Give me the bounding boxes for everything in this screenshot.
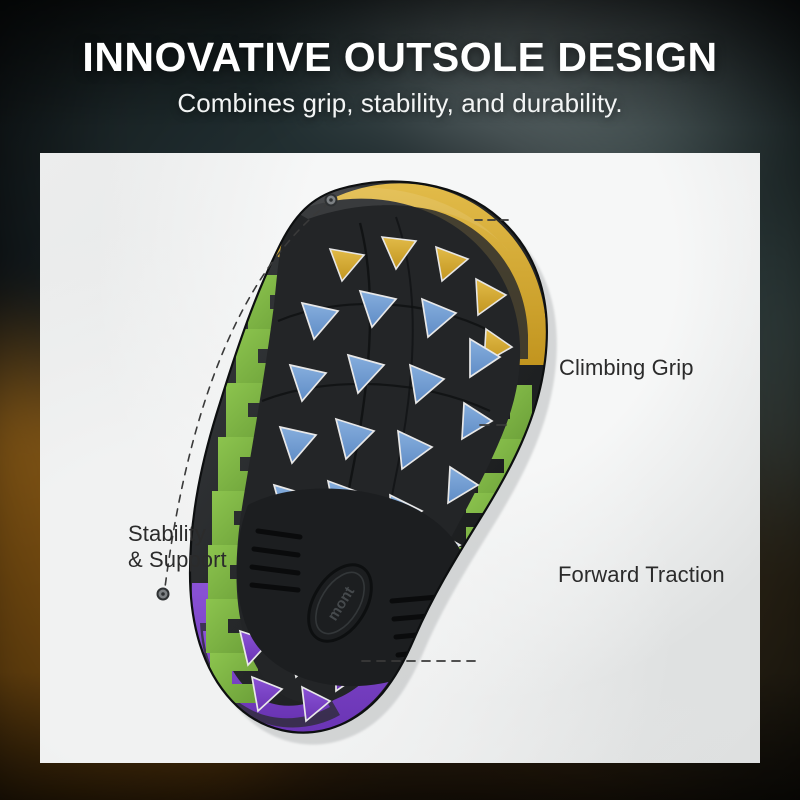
product-card: mont <box>40 153 760 763</box>
callout-label-stability-line1: Stability <box>128 521 227 547</box>
page-subtitle: Combines grip, stability, and durability… <box>0 88 800 119</box>
poster-canvas: INNOVATIVE OUTSOLE DESIGN Combines grip,… <box>0 0 800 800</box>
callout-connectors <box>40 153 760 763</box>
header-block: INNOVATIVE OUTSOLE DESIGN Combines grip,… <box>0 36 800 119</box>
callout-label-stability-line2: & Support <box>128 547 227 573</box>
callout-label-climbing-grip: Climbing Grip <box>559 355 694 381</box>
callout-label-forward-traction: Forward Traction <box>558 562 725 588</box>
callout-label-stability-support: Stability & Support <box>128 521 227 574</box>
page-title: INNOVATIVE OUTSOLE DESIGN <box>0 36 800 79</box>
